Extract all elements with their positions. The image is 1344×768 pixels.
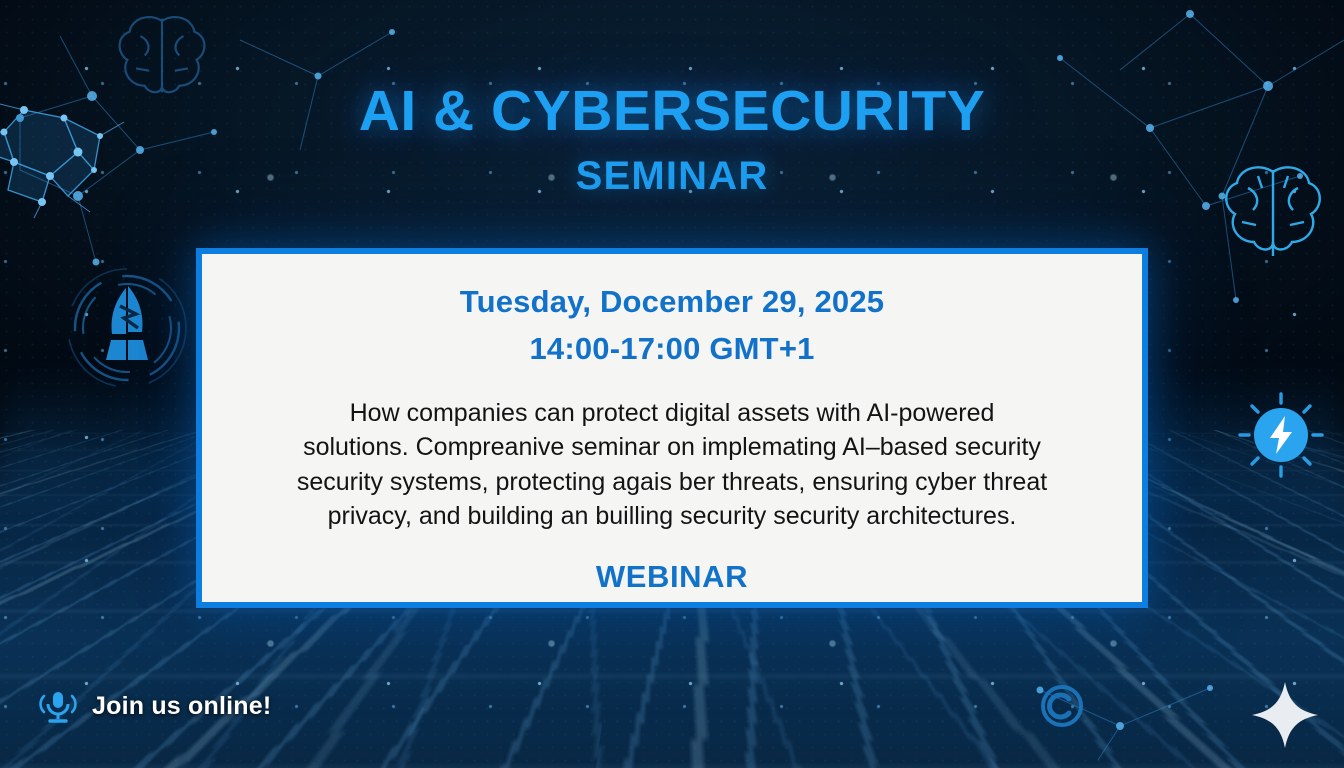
details-card: Tuesday, Docember 29, 2025 14:00-17:00 G… — [196, 248, 1148, 608]
copyright-icon — [1038, 682, 1086, 730]
page-title: AI & CYBERSECURITY — [0, 82, 1344, 142]
join-online-callout: Join us online! — [38, 686, 271, 726]
microphone-broadcast-icon — [38, 686, 78, 726]
description-line-3: security systems, protecting agais ber t… — [297, 465, 1047, 499]
bolt-glyph — [1238, 392, 1324, 478]
poster-title-block: AI & CYBERSECURITY SEMINAR — [0, 82, 1344, 199]
description-line-1: How companies can protect digital assets… — [297, 396, 1047, 430]
page-subtitle: SEMINAR — [0, 154, 1344, 199]
rocket-glyph — [62, 262, 192, 394]
event-datetime: Tuesday, Docember 29, 2025 14:00-17:00 G… — [460, 278, 885, 372]
seminar-poster: AI & CYBERSECURITY SEMINAR Tuesday, Doce… — [0, 0, 1344, 768]
sparkle-glyph — [1248, 678, 1322, 752]
microphone-glyph — [38, 686, 78, 726]
description-line-2: solutions. Compreanive seminar on implem… — [297, 430, 1047, 464]
join-online-label: Join us online! — [92, 692, 271, 721]
description-line-4: privacy, and building an builling securi… — [297, 499, 1047, 533]
sparkle-icon — [1248, 678, 1322, 752]
event-date: Tuesday, Docember 29, 2025 — [460, 278, 885, 325]
event-format-tag: WEBINAR — [596, 559, 748, 595]
lightning-bolt-badge-icon — [1238, 392, 1324, 478]
event-description: How companies can protect digital assets… — [297, 396, 1047, 533]
rocket-rings-icon — [62, 262, 192, 394]
copyright-glyph — [1038, 682, 1086, 730]
event-time: 14:00-17:00 GMT+1 — [460, 325, 885, 372]
